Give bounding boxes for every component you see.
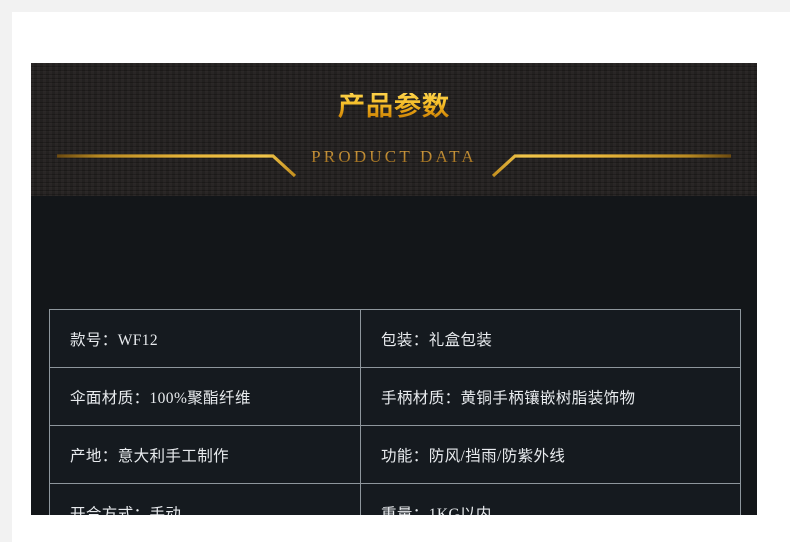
panel-header-band: 产品参数 PRODUCT DATA [31,63,757,196]
spec-cell-model: 款号：WF12 [50,310,361,368]
table-row: 开合方式：手动 重量：1KG以内 [50,484,741,516]
spec-cell-function: 功能：防风/挡雨/防紫外线 [361,426,741,484]
product-spec-table: 款号：WF12 包装：礼盒包装 伞面材质：100%聚酯纤维 手柄材质：黄铜手柄镶… [49,309,741,515]
page-canvas: 产品参数 PRODUCT DATA [0,0,790,542]
product-data-panel: 产品参数 PRODUCT DATA [31,63,757,515]
page-gutter-top [0,0,790,12]
spec-cell-origin: 产地：意大利手工制作 [50,426,361,484]
table-row: 款号：WF12 包装：礼盒包装 [50,310,741,368]
gold-rule-right-icon [481,141,731,183]
page-gutter-left [0,0,12,542]
spec-cell-packaging: 包装：礼盒包装 [361,310,741,368]
panel-body: 款号：WF12 包装：礼盒包装 伞面材质：100%聚酯纤维 手柄材质：黄铜手柄镶… [31,196,757,515]
spec-cell-weight: 重量：1KG以内 [361,484,741,516]
page-title: 产品参数 [31,93,757,120]
spec-cell-canopy-material: 伞面材质：100%聚酯纤维 [50,368,361,426]
spec-cell-open-close: 开合方式：手动 [50,484,361,516]
spec-cell-handle-material: 手柄材质：黄铜手柄镶嵌树脂装饰物 [361,368,741,426]
subtitle-decoration-row: PRODUCT DATA [31,141,757,183]
table-row: 伞面材质：100%聚酯纤维 手柄材质：黄铜手柄镶嵌树脂装饰物 [50,368,741,426]
table-row: 产地：意大利手工制作 功能：防风/挡雨/防紫外线 [50,426,741,484]
